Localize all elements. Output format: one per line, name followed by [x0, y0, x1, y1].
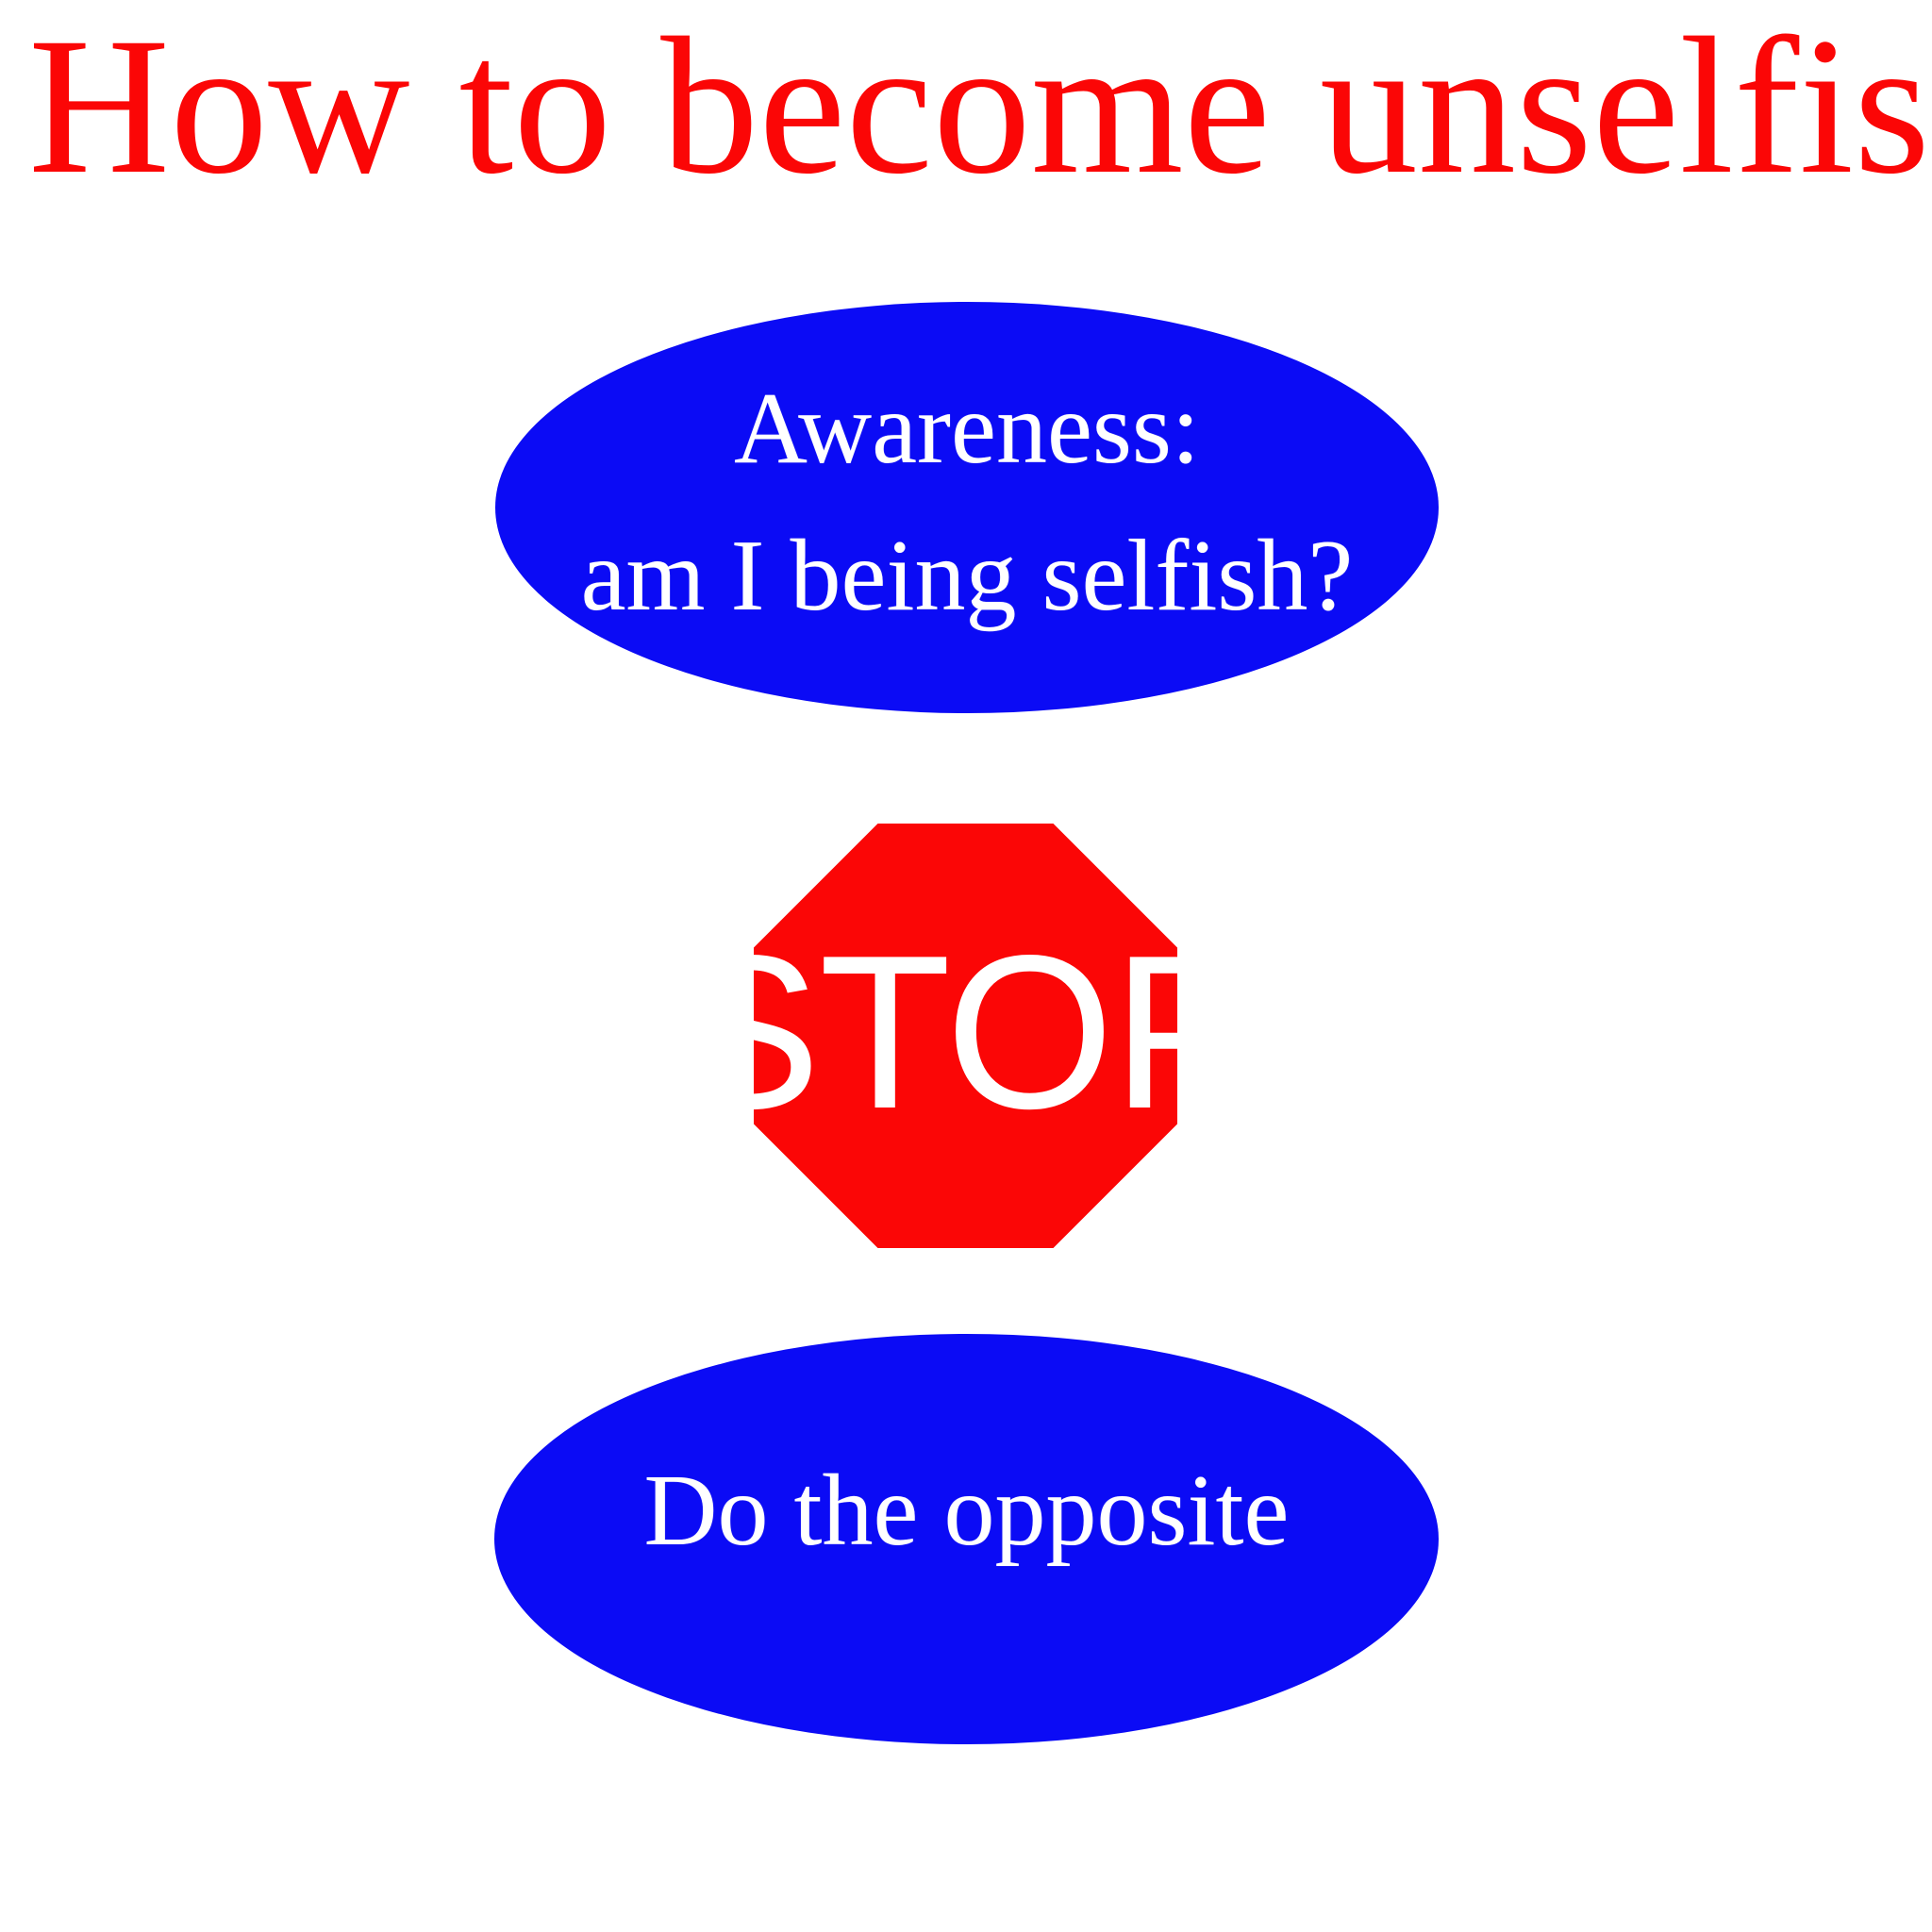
awareness-label-line-2: am I being selfish?: [581, 511, 1354, 641]
page-title: How to become unselfish: [28, 5, 1906, 208]
slide-canvas: How to become unselfish Awareness: am I …: [0, 0, 1932, 1932]
stop-label: STOP: [756, 824, 1175, 1248]
do-the-opposite-node[interactable]: Do the opposite: [494, 1334, 1439, 1744]
stop-sign-node[interactable]: STOP: [754, 824, 1177, 1248]
awareness-label-line-1: Awareness:: [734, 364, 1200, 494]
awareness-node[interactable]: Awareness: am I being selfish?: [495, 302, 1439, 713]
do-the-opposite-label: Do the opposite: [644, 1446, 1290, 1576]
